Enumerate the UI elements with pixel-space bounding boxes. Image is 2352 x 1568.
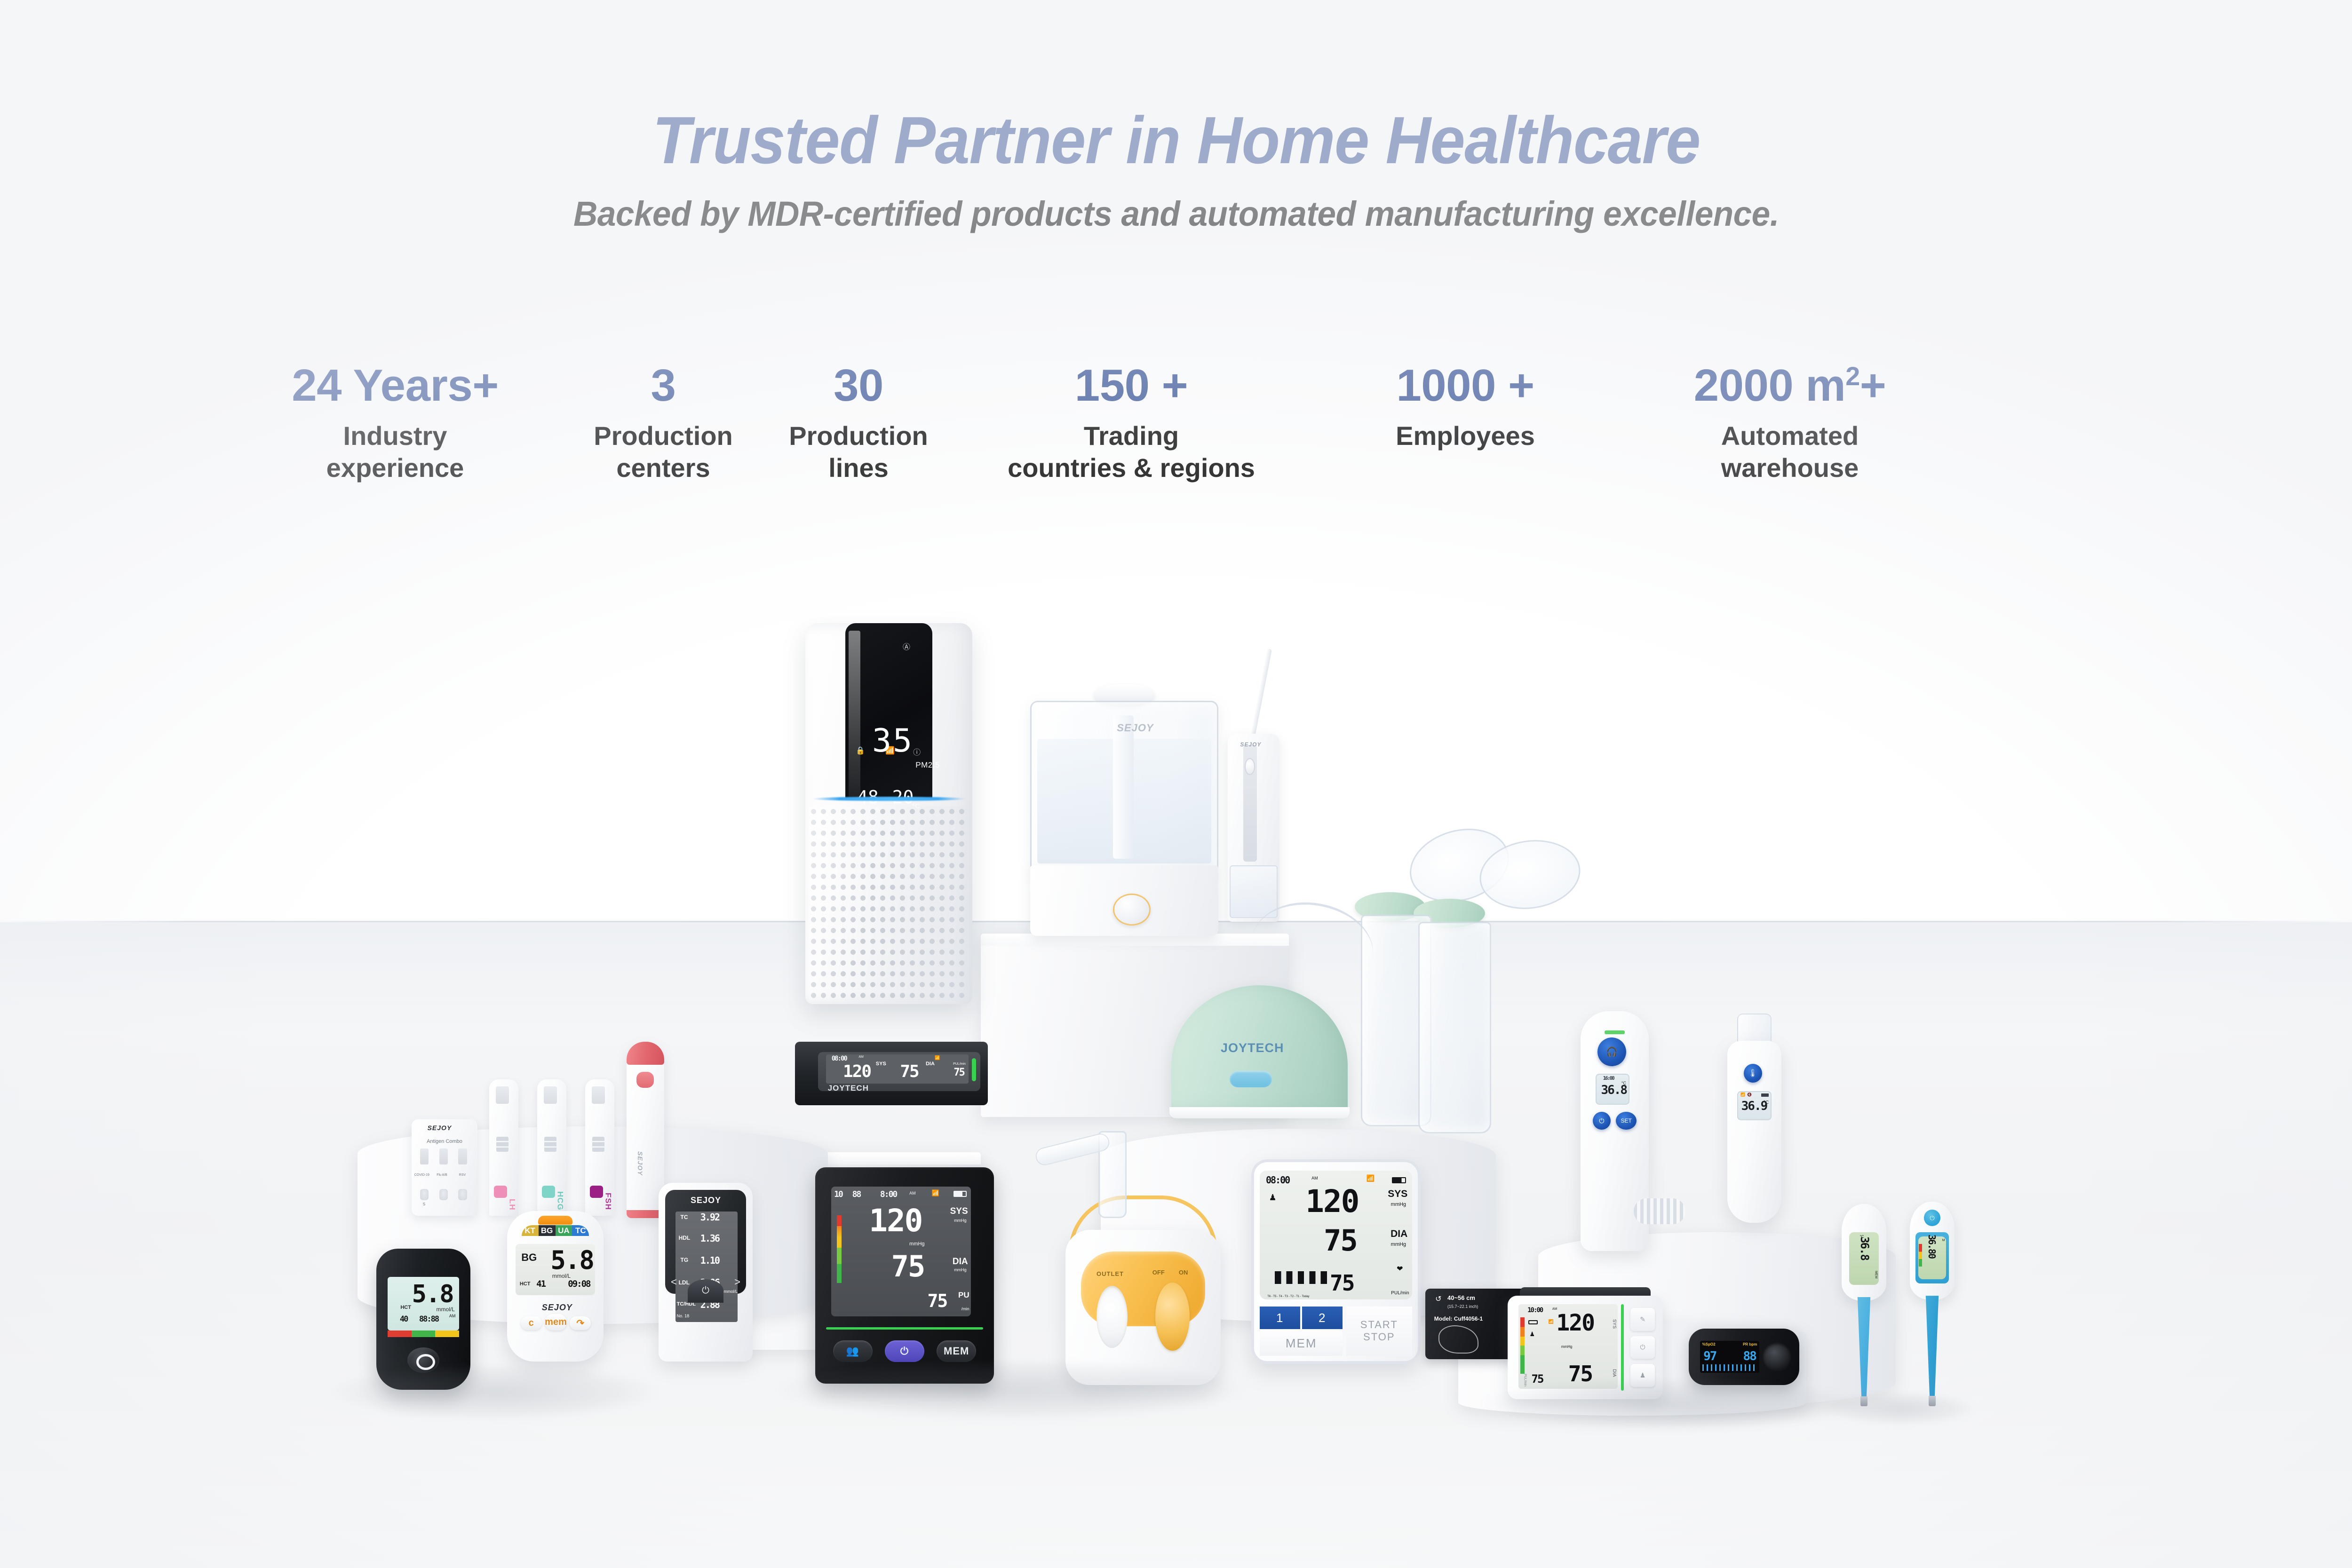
mode-tab-ua[interactable]: UA [556,1225,572,1235]
arm-bp-black-user-button[interactable]: 👥 [833,1340,873,1362]
air-purifier-pm25-unit: PM2.5 [915,760,940,770]
antigen-cassette-test-label-1: COVID-19 [414,1173,429,1177]
arm-bp-black-accent-line [826,1327,983,1330]
arm-bp-black-power-button[interactable]: ⏻ [885,1340,924,1362]
ear-thermometer-2-display: 📶 🔇 36.9 °C [1737,1091,1772,1120]
chol-row-3-label: LDL [679,1279,690,1286]
wrist-white-sys-label: SYS [1612,1319,1617,1329]
glucose-meter-white-forward-button[interactable]: ↷ [570,1316,591,1330]
digital-thermometer-1-display: 36.8 °C MEM [1849,1232,1879,1285]
glucose-white-mode: BG [521,1251,537,1264]
glucose-meter-white-display: BG 5.8 mmol/L HCT 41 09:08 [516,1244,595,1295]
air-purifier-filter-mesh [809,806,969,1000]
product-arm-bp-black[interactable]: 10 88 8:00 AM 📶 120 SYS mmHg mmHg 75 DIA… [815,1167,994,1384]
test-strip-grip [544,1137,556,1152]
product-ear-thermometer-docked[interactable]: 🎧 16:00 36.8 °C ⏻ SET [1581,1011,1649,1251]
wrist-white-sys-value: 120 [1556,1310,1594,1336]
air-purifier-pm25-value: 35 [872,722,914,760]
arm-bp-black-hypertension-scale [837,1215,842,1283]
user-icon: ♟ [1529,1330,1535,1338]
arm-bp-white-user1-button[interactable]: 1 [1260,1307,1300,1329]
humidifier-brand-logo: SEJOY [1117,722,1153,734]
product-arm-bp-white[interactable]: 08:00 AM 📶 ♟ 120 SYS mmHg 75 DIA mmHg 75… [1251,1159,1421,1364]
humidifier-control-knob[interactable] [1113,894,1151,926]
glucose-meter-white-back-button[interactable]: c [521,1316,542,1330]
arm-bp-white-dia-label: DIA [1391,1228,1407,1240]
product-ear-thermometer-infrared[interactable]: 🌡 📶 🔇 36.9 °C [1727,1014,1781,1223]
antigen-cassette-window-2 [439,1148,448,1165]
shadow-thermometers [1825,1392,1976,1425]
digital-thermo-2-unit: °C [1929,1238,1932,1241]
product-digital-thermometer-2[interactable]: ⏻ 36.80 °C M [1910,1202,1955,1406]
timer-icon: ⓘ [913,746,921,757]
arm-bp-white-pulse-value: 75 [1330,1270,1354,1296]
arm-bp-white-time: 08:00 [1266,1174,1289,1186]
shadow-left-group [329,1364,659,1420]
arm-bp-black-pulse-unit: /min [961,1307,969,1311]
arm-bp-black-date-month: 10 [834,1189,842,1199]
arm-bp-black-dia-unit: mmHg [954,1267,967,1272]
glucose-black-ampm: AM [449,1314,456,1318]
glucose-white-time: 09:08 [568,1279,590,1289]
product-breast-pump-motor[interactable]: JOYTECH [1171,985,1348,1115]
ear-thermometer-time: 16:00 [1603,1075,1614,1081]
wrist-white-pulse-unit: PUL/min [1524,1374,1527,1386]
chol-record-number: No. 18 [677,1314,690,1318]
arm-bp-white-start-stop-button[interactable]: START STOP [1346,1307,1412,1355]
bp-cuff-size-inch: (15.7~22.1 inch) [1447,1304,1478,1309]
wrist-joytech-dia-label: DIA [926,1061,935,1067]
battery-icon [954,1191,967,1197]
oximeter-pr-label: PR bpm [1743,1342,1757,1346]
arm-bp-white-sys-unit: mmHg [1391,1202,1406,1207]
oral-irrigator-nozzle [1249,649,1272,742]
product-breast-pump-assembly[interactable] [1338,821,1602,1150]
ear-thermometer-measure-button[interactable]: 🎧 [1597,1037,1626,1066]
breast-pump-power-button[interactable] [1230,1071,1272,1088]
arm-bp-black-sys-unit: mmHg [954,1218,967,1223]
lancing-device-release-button[interactable] [636,1072,654,1088]
glucose-meter-white-mem-button[interactable]: mem [545,1314,567,1330]
oximeter-pr-value: 88 [1743,1349,1756,1363]
arm-bp-black-mmhg-mid: mmHg [909,1241,924,1247]
ear-thermometer-status-light [1605,1030,1625,1034]
arm-bp-white-history-chart [1275,1271,1327,1284]
pulse-oximeter-finger-slot [1763,1342,1791,1371]
oral-irrigator-body: SEJOY [1228,734,1279,922]
wrist-bp-white-power-button[interactable]: ⏻ [1630,1336,1655,1359]
glucose-white-value: 5.8 [550,1245,594,1275]
test-strip-color-tag [494,1186,508,1198]
lancing-device-cap [627,1042,664,1065]
bluetooth-icon: 📶 [1548,1319,1553,1324]
antigen-cassette-test-label-3: RSV [459,1173,466,1177]
test-strip-label: FSH [603,1193,612,1210]
wrist-bp-white-display: 10:00 AM 📶 ♟ 120 SYS mmHg 75 DIA 75 PUL/… [1518,1304,1618,1389]
ear-thermometer-display: 16:00 36.8 °C [1596,1074,1630,1105]
product-cholesterol-meter[interactable]: SEJOY TC 3.92 HDL 1.36 TG 1.10 LDL 2.06 … [659,1183,753,1362]
test-strip-color-tag [590,1186,604,1198]
ear-thermometer-coiled-cord [1634,1198,1685,1224]
arm-bp-black-ampm: AM [909,1191,916,1196]
shadow-center-group [776,1359,1247,1420]
glucose-white-unit: mmol/L [552,1273,571,1279]
wrist-joytech-ampm: AM [858,1055,864,1059]
oximeter-spo2-label: %SpO2 [1702,1342,1716,1346]
cholesterol-meter-brand-logo: SEJOY [691,1196,721,1205]
product-showcase: Ⓐ 🔒 📶 ⓘ 35 PM2.5 48 % 20 °C SEJOY [0,0,2352,1568]
nebulizer-outlet-port [1097,1286,1128,1348]
test-strip-label: HCG [555,1191,564,1211]
arm-bp-white-ampm: AM [1311,1176,1318,1180]
range-green [412,1330,436,1337]
digital-thermo-1-value: 36.8 [1858,1236,1871,1260]
digital-thermo-2-mem-label: M [1942,1239,1945,1242]
product-test-strip-hcg[interactable]: HCG [537,1079,566,1216]
antigen-cassette-sample-well-3 [458,1189,467,1201]
wrist-white-time: 10:00 [1527,1307,1542,1314]
bluetooth-icon: 📶 [935,1055,940,1061]
digital-thermometer-2-power-button[interactable]: ⏻ [1924,1210,1940,1226]
antigen-cassette-sample-well-2 [439,1189,448,1201]
test-strip-color-tag [542,1186,556,1198]
test-strip-window [544,1086,557,1104]
stop-label: STOP [1363,1331,1395,1343]
ear-thermometer-power-button[interactable]: ⏻ [1593,1112,1611,1130]
arm-bp-black-time: 8:00 [880,1189,897,1199]
bluetooth-icon: 📶 [932,1189,939,1197]
glucose-black-hct-value: 40 [400,1315,407,1324]
antigen-cassette-window-1 [420,1148,429,1165]
bluetooth-icon: 📶 [1740,1093,1745,1097]
arm-bp-white-dia-unit: mmHg [1391,1242,1406,1247]
wrist-joytech-time: 08:00 [832,1055,847,1062]
glucose-meter-black-range-bar [388,1330,459,1337]
glucose-meter-white-brand-logo: SEJOY [542,1303,572,1313]
start-label: START [1360,1319,1398,1331]
ear-thermometer-2-unit: °C [1764,1100,1769,1105]
arm-bp-black-sys-label: SYS [950,1206,968,1217]
arm-bp-white-sys-value: 120 [1305,1183,1359,1220]
air-purifier-light-ring [812,797,966,801]
product-pulse-oximeter[interactable]: %SpO2 PR bpm 97 88 [1689,1329,1799,1385]
antigen-cassette-sample-well-1 [420,1189,429,1201]
wrist-joytech-dia-value: 75 [900,1062,918,1081]
arm-bp-black-display: 10 88 8:00 AM 📶 120 SYS mmHg mmHg 75 DIA… [831,1187,970,1316]
lancing-device-brand-logo: SEJOY [636,1151,644,1176]
oral-irrigator-water-tank [1230,865,1277,918]
heart-icon: ❤ [1397,1264,1403,1274]
auto-mode-icon: Ⓐ [903,641,910,652]
ear-thermometer-set-button[interactable]: SET [1616,1112,1637,1130]
antigen-cassette-brand-logo: SEJOY [428,1124,452,1132]
shadow-right-group [1482,1378,1858,1430]
wrist-bp-joytech-status-light [972,1058,976,1081]
digital-thermo-1-mem-label: MEM [1874,1271,1877,1278]
wrist-white-dia-label: DIA [1612,1369,1617,1377]
bluetooth-icon: 📶 [1367,1174,1375,1182]
arm-bp-black-sys-value: 120 [869,1203,922,1239]
nebulizer-on-label: ON [1179,1269,1188,1276]
ear-thermometer-unit: °C [1621,1081,1626,1085]
mute-icon: 🔇 [1747,1093,1752,1097]
user-icon: ♟ [1269,1193,1276,1203]
test-strip-window [592,1086,605,1104]
arm-bp-black-mem-button[interactable]: MEM [937,1340,976,1362]
air-purifier-glass-reflection [849,631,860,798]
arrow-icon: ↺ [1435,1294,1441,1304]
wrist-white-sys-unit: mmHg [1561,1345,1573,1349]
product-test-strip-lh[interactable]: LH [489,1079,518,1216]
battery-icon [1392,1177,1406,1183]
cholesterol-next-button[interactable]: > [734,1276,740,1288]
battery-icon [1761,1093,1769,1097]
breast-pump-bottle-right [1418,922,1491,1133]
chol-row-2-label: TG [681,1257,689,1263]
digital-thermometer-2-probe [1915,1296,1950,1398]
test-strip-label: LH [507,1199,516,1211]
oral-irrigator-brand-logo: SEJOY [1240,741,1261,748]
test-strip-window [496,1086,509,1104]
product-digital-thermometer-1[interactable]: 36.8 °C MEM [1842,1204,1886,1406]
mode-tab-bg[interactable]: BG [539,1225,556,1235]
wrist-bp-joytech-display: 08:00 AM 120 SYS 75 DIA PUL/min 75 📶 [826,1054,969,1084]
ear-thermometer-2-measure-button[interactable]: 🌡 [1744,1064,1762,1083]
range-red [388,1330,412,1337]
glucose-white-hct-value: 41 [536,1279,545,1289]
arm-bp-white-mem-button[interactable]: MEM [1260,1331,1343,1355]
nebulizer-outlet-label: OUTLET [1097,1270,1124,1277]
humidifier-base [1030,865,1218,936]
pulse-oximeter-display: %SpO2 PR bpm 97 88 [1700,1341,1760,1372]
arm-bp-white-user2-button[interactable]: 2 [1302,1307,1343,1329]
wrist-joytech-sys-value: 120 [843,1062,871,1081]
range-yellow [435,1330,459,1337]
arm-bp-white-pulse-unit: PUL/min [1391,1291,1409,1296]
arm-bp-black-pulse-label: PU [958,1291,969,1300]
chol-unit: mmol/L [723,1289,738,1294]
product-oral-irrigator[interactable]: SEJOY [1228,734,1279,922]
test-strip-grip [592,1137,604,1152]
cholesterol-meter-display: TC 3.92 HDL 1.36 TG 1.10 LDL 2.06 TC/HDL… [675,1212,738,1323]
product-glucose-meter-white[interactable]: KT BG UA TC BG 5.8 mmol/L HCT 41 09:08 S… [507,1211,604,1362]
digital-thermometer-1-probe [1846,1297,1882,1398]
glucose-white-hct-label: HCT [520,1281,531,1287]
arm-bp-black-pulse-value: 75 [927,1291,947,1311]
digital-thermometer-2-display: 36.80 °C M [1918,1236,1946,1279]
battery-icon [1528,1320,1538,1324]
glucose-meter-white-strip-port [538,1216,573,1225]
bp-cuff-model: Model: Cuff4056-1 [1434,1315,1483,1322]
antigen-cassette-product-name: Antigen Combo [412,1139,477,1144]
antigen-cassette-test-label-2: Flu A/B [437,1173,447,1177]
product-air-purifier[interactable]: Ⓐ 🔒 📶 ⓘ 35 PM2.5 48 % 20 °C [805,623,972,1004]
humidifier-column [1113,715,1133,858]
breast-pump-motor-base [1169,1107,1350,1119]
wrist-white-hypertension-scale [1520,1317,1525,1373]
wrist-joytech-sys-label: SYS [876,1061,886,1067]
glucose-meter-white-mode-tabs[interactable]: KT BG UA TC [522,1225,589,1235]
cholesterol-power-button[interactable]: ⏻ [688,1279,723,1302]
chol-row-0-label: TC [681,1214,688,1220]
wrist-white-pulse-value: 75 [1532,1372,1543,1386]
product-wrist-bp-joytech[interactable]: 08:00 AM 120 SYS 75 DIA PUL/min 75 📶 JOY… [795,1042,988,1105]
wrist-joytech-pulse-unit: PUL/min [953,1062,966,1066]
arm-bp-white-display: 08:00 AM 📶 ♟ 120 SYS mmHg 75 DIA mmHg 75… [1260,1171,1412,1299]
glucose-black-hct-label: HCT [400,1305,411,1310]
arm-bp-black-dia-value: 75 [891,1249,925,1283]
chol-row-1-label: HDL [679,1235,691,1241]
chol-row-0-value: 3.92 [700,1212,719,1223]
arm-bp-white-sys-label: SYS [1388,1188,1407,1200]
wrist-bp-white-record-button[interactable]: ✎ [1630,1308,1655,1330]
arm-bp-white-history-labels: T6 - T5 - T4 - T3 - T2 - T1 - Today [1267,1295,1309,1298]
wrist-joytech-pulse-value: 75 [954,1067,964,1078]
test-strip-grip [496,1137,509,1152]
oximeter-waveform [1702,1364,1757,1370]
digital-thermo-2-range-bar [1919,1244,1922,1266]
glucose-black-unit: mmol/L [437,1306,455,1313]
antigen-cassette-body: SEJOY Antigen Combo COVID-19 Flu A/B RSV… [412,1119,477,1216]
product-antigen-cassette[interactable]: SEJOY Antigen Combo COVID-19 Flu A/B RSV… [412,1119,477,1216]
nebulizer-off-label: OFF [1152,1269,1165,1276]
bp-cuff-size-range: 40~56 cm [1447,1294,1475,1301]
breast-pump-brand-logo: JOYTECH [1221,1041,1284,1055]
wrist-bp-white-accent-line [1621,1304,1624,1391]
chol-row-1-value: 1.36 [700,1233,719,1244]
wrist-bp-joytech-brand-logo: JOYTECH [828,1084,869,1093]
cholesterol-prev-button[interactable]: < [671,1276,677,1288]
humidifier-tank: SEJOY [1030,701,1218,870]
arm-bp-black-date-day: 88 [852,1189,861,1199]
glucose-black-time: 88:88 [419,1315,438,1324]
chol-row-2-value: 1.10 [700,1255,719,1266]
product-test-strip-fsh[interactable]: FSH [585,1079,614,1216]
arm-bp-white-dia-value: 75 [1324,1223,1357,1258]
arm-bp-black-dia-label: DIA [953,1257,968,1267]
nebulizer-power-knob[interactable] [1155,1283,1190,1351]
oximeter-spo2-value: 97 [1703,1349,1716,1363]
hand-diagram-icon [1438,1325,1478,1354]
antigen-cassette-sample-marker: S [423,1202,425,1206]
antigen-cassette-window-3 [458,1148,467,1165]
glucose-black-value: 5.8 [412,1280,453,1308]
product-humidifier[interactable]: SEJOY [1030,701,1218,936]
glucose-meter-black-display: 5.8 mmol/L HCT 40 88:88 AM [388,1277,459,1330]
digital-thermo-1-unit: °C [1860,1235,1864,1239]
